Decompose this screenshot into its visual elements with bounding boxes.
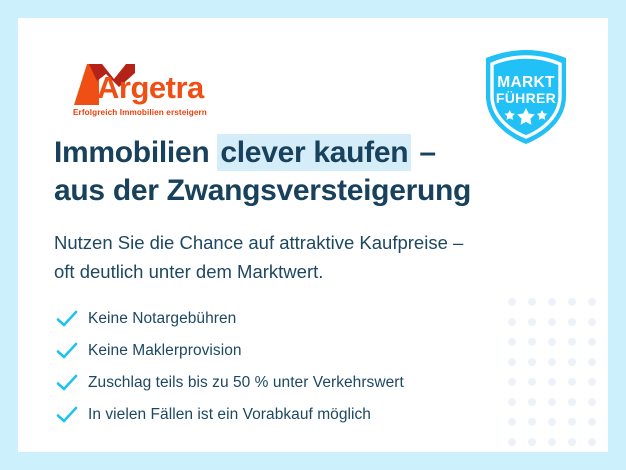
dot	[548, 438, 556, 446]
dot	[568, 438, 576, 446]
dot	[568, 418, 576, 426]
logo-wordmark: Argetra	[97, 70, 205, 105]
argetra-logo-mark: Argetra	[72, 62, 222, 110]
dot	[588, 418, 596, 426]
market-leader-badge: MARKT FÜHRER	[480, 48, 572, 146]
check-icon	[56, 342, 88, 360]
headline-prefix: Immobilien	[54, 136, 217, 169]
dot	[548, 418, 556, 426]
list-item: Keine Maklerprovision	[56, 336, 536, 366]
dot	[588, 358, 596, 366]
dot	[588, 338, 596, 346]
headline: Immobilien clever kaufen – aus der Zwang…	[54, 134, 554, 210]
headline-highlight: clever kaufen	[217, 134, 411, 171]
dot	[588, 398, 596, 406]
check-icon	[56, 406, 88, 424]
dot	[548, 398, 556, 406]
dot	[548, 338, 556, 346]
dot	[588, 318, 596, 326]
benefit-list: Keine Notargebühren Keine Maklerprovisio…	[56, 304, 536, 432]
dot	[508, 438, 516, 446]
subheadline-line-2: oft deutlich unter dem Marktwert.	[54, 257, 574, 286]
logo-tagline: Erfolgreich Immobilien ersteigern	[73, 108, 207, 117]
list-item: Keine Notargebühren	[56, 304, 536, 334]
check-icon	[56, 310, 88, 328]
subheadline: Nutzen Sie die Chance auf attraktive Kau…	[54, 228, 574, 286]
dot	[548, 378, 556, 386]
badge-line2-text: FÜHRER	[496, 90, 556, 106]
dot	[528, 438, 536, 446]
check-icon	[56, 374, 88, 392]
list-item: Zuschlag teils bis zu 50 % unter Verkehr…	[56, 368, 536, 398]
list-item: In vielen Fällen ist ein Vorabkauf mögli…	[56, 400, 536, 430]
dot	[568, 378, 576, 386]
list-item-label: In vielen Fällen ist ein Vorabkauf mögli…	[88, 406, 371, 424]
headline-line-1: Immobilien clever kaufen –	[54, 134, 554, 172]
promo-banner-card: Argetra Erfolgreich Immobilien ersteiger…	[18, 18, 608, 452]
dot	[548, 358, 556, 366]
headline-suffix: –	[411, 136, 435, 169]
dot	[588, 378, 596, 386]
dot	[548, 318, 556, 326]
headline-line-2: aus der Zwangsversteigerung	[54, 172, 554, 210]
badge-line1-text: MARKT	[497, 74, 555, 91]
dot	[588, 438, 596, 446]
dot	[568, 358, 576, 366]
dot	[568, 398, 576, 406]
dot	[568, 318, 576, 326]
list-item-label: Keine Notargebühren	[88, 310, 236, 328]
list-item-label: Zuschlag teils bis zu 50 % unter Verkehr…	[88, 374, 404, 392]
dot	[568, 298, 576, 306]
argetra-logo[interactable]: Argetra Erfolgreich Immobilien ersteiger…	[72, 62, 222, 124]
dot	[568, 338, 576, 346]
dot	[588, 298, 596, 306]
shield-icon: MARKT FÜHRER	[480, 48, 572, 146]
dot	[548, 298, 556, 306]
list-item-label: Keine Maklerprovision	[88, 342, 242, 360]
subheadline-line-1: Nutzen Sie die Chance auf attraktive Kau…	[54, 228, 574, 257]
